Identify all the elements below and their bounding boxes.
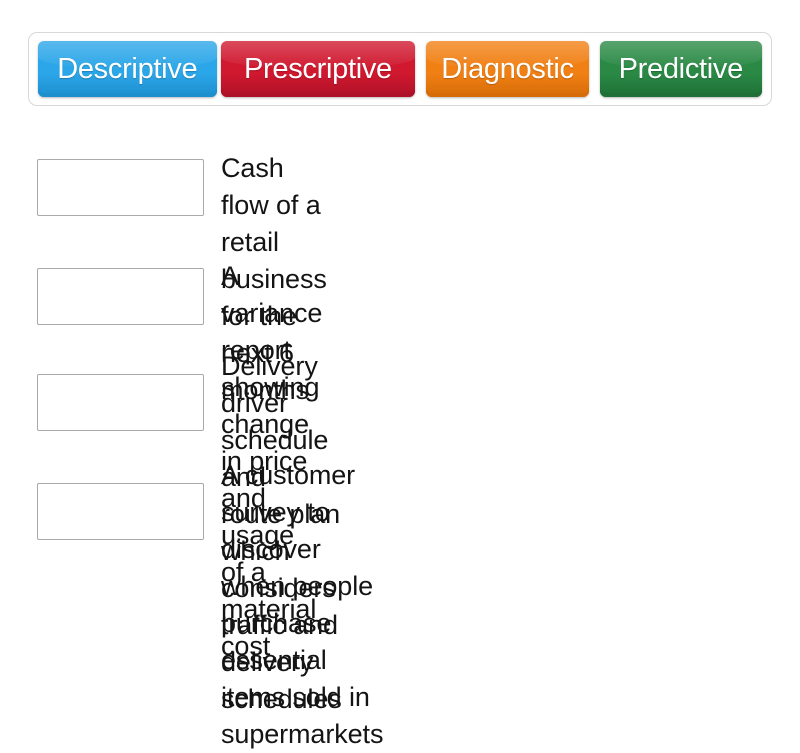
dropzone-2[interactable]: [37, 268, 204, 325]
chip-label: Descriptive: [57, 55, 197, 84]
chip-descriptive[interactable]: Descriptive: [38, 41, 217, 97]
chip-label: Predictive: [619, 55, 743, 84]
chip-prescriptive[interactable]: Prescriptive: [221, 41, 416, 97]
dropzone-1[interactable]: [37, 159, 204, 216]
chip-diagnostic[interactable]: Diagnostic: [426, 41, 588, 97]
dropzone-4[interactable]: [37, 483, 204, 540]
answer-chip-tray: Descriptive Prescriptive Diagnostic Pred…: [28, 32, 772, 106]
prompt-text: A customer survey to discover when peopl…: [221, 457, 383, 753]
dropzone-3[interactable]: [37, 374, 204, 431]
chip-predictive[interactable]: Predictive: [600, 41, 762, 97]
chip-label: Prescriptive: [244, 55, 392, 84]
chip-label: Diagnostic: [441, 55, 573, 84]
